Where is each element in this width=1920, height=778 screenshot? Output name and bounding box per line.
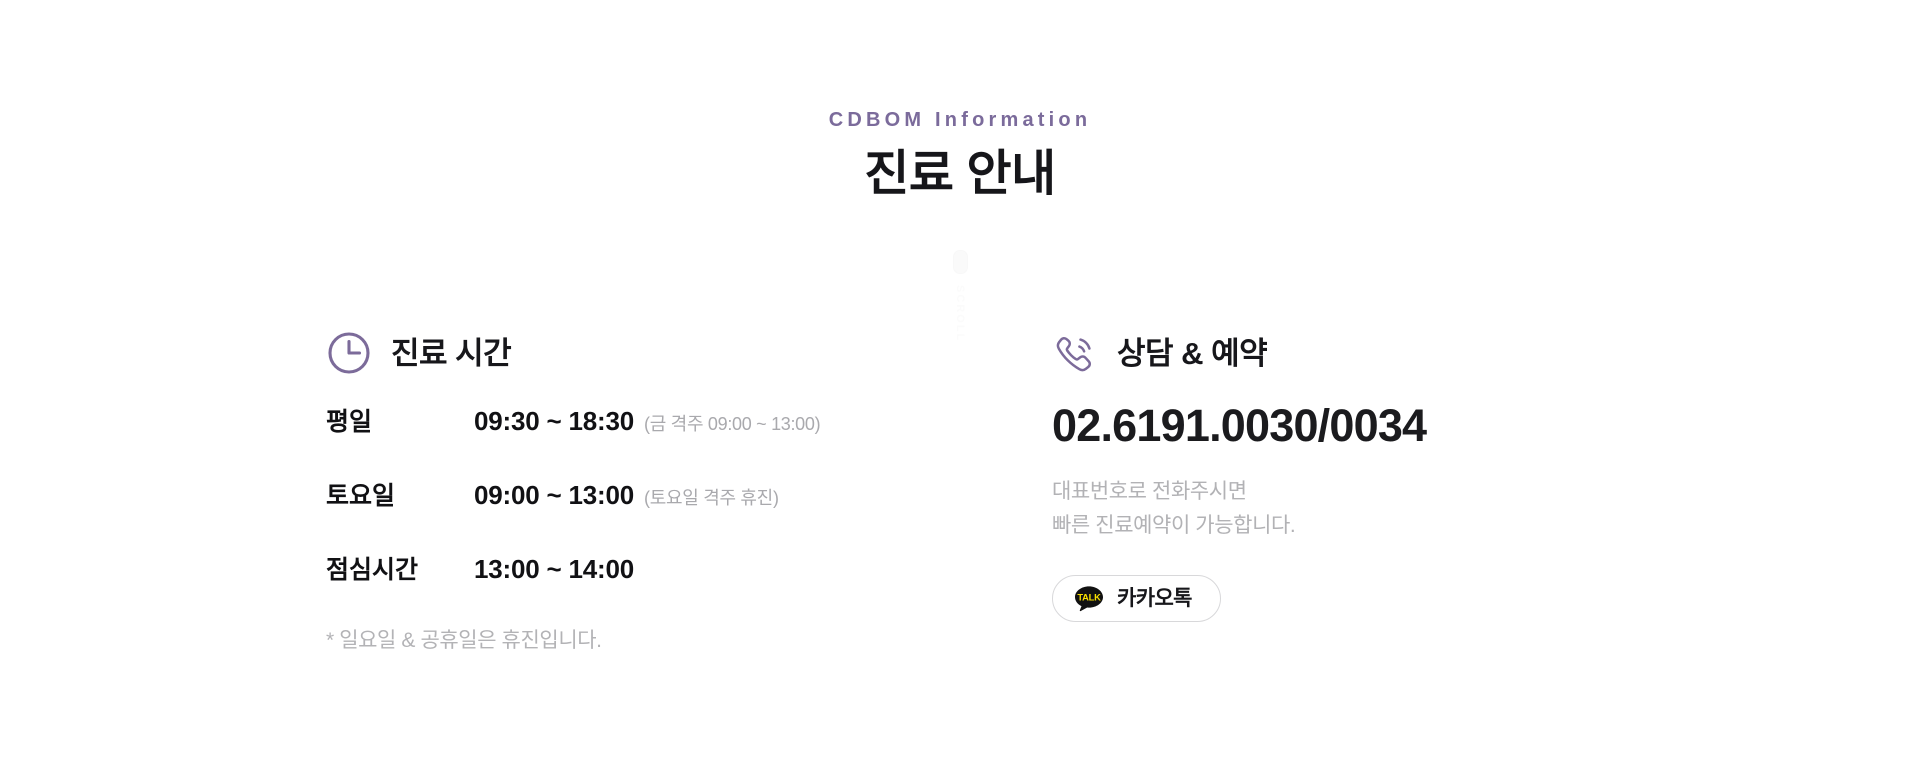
contact-description-line-1: 대표번호로 전화주시면	[1052, 475, 1600, 509]
contact-heading-label: 상담 & 예약	[1117, 338, 1267, 369]
contact-column: 상담 & 예약 02.6191.0030/0034 대표번호로 전화주시면 빠른…	[960, 330, 1600, 654]
hours-column: 진료 시간 평일 09:30 ~ 18:30 (금 격주 09:00 ~ 13:…	[320, 330, 960, 654]
hours-day-label: 평일	[326, 402, 474, 438]
svg-text:TALK: TALK	[1077, 593, 1101, 603]
hours-heading-label: 진료 시간	[391, 338, 511, 369]
scroll-hint: SCROLL	[0, 250, 1920, 342]
hours-note: (금 격주 09:00 ~ 13:00)	[644, 410, 820, 436]
hours-time-value: 09:30 ~ 18:30	[474, 406, 634, 437]
hours-row: 점심시간 13:00 ~ 14:00	[326, 550, 960, 586]
kakaotalk-button[interactable]: TALK 카카오톡	[1052, 575, 1221, 622]
hours-time-value: 13:00 ~ 14:00	[474, 554, 634, 585]
contact-description-line-2: 빠른 진료예약이 가능합니다.	[1052, 509, 1600, 543]
page-title: 진료 안내	[0, 146, 1920, 204]
kakaotalk-icon: TALK	[1074, 585, 1104, 612]
mouse-scroll-icon	[953, 250, 968, 274]
hours-row: 평일 09:30 ~ 18:30 (금 격주 09:00 ~ 13:00)	[326, 402, 960, 438]
hours-row: 토요일 09:00 ~ 13:00 (토요일 격주 휴진)	[326, 476, 960, 512]
contact-heading: 상담 & 예약	[1052, 330, 1600, 376]
info-columns: 진료 시간 평일 09:30 ~ 18:30 (금 격주 09:00 ~ 13:…	[0, 330, 1920, 654]
page-header: CDBOM Information 진료 안내	[0, 0, 1920, 204]
kakaotalk-button-label: 카카오톡	[1117, 588, 1192, 609]
hours-time-value: 09:00 ~ 13:00	[474, 480, 634, 511]
hours-note: (토요일 격주 휴진)	[644, 484, 779, 510]
hours-footnote: * 일요일 & 공휴일은 휴진입니다.	[326, 624, 960, 654]
clock-icon	[326, 330, 372, 376]
page-eyebrow: CDBOM Information	[0, 108, 1920, 132]
phone-number[interactable]: 02.6191.0030/0034	[1052, 402, 1600, 449]
hours-day-label: 점심시간	[326, 550, 474, 586]
contact-description: 대표번호로 전화주시면 빠른 진료예약이 가능합니다.	[1052, 475, 1600, 543]
hours-heading: 진료 시간	[326, 330, 960, 376]
hours-day-label: 토요일	[326, 476, 474, 512]
phone-ringing-icon	[1052, 330, 1098, 376]
